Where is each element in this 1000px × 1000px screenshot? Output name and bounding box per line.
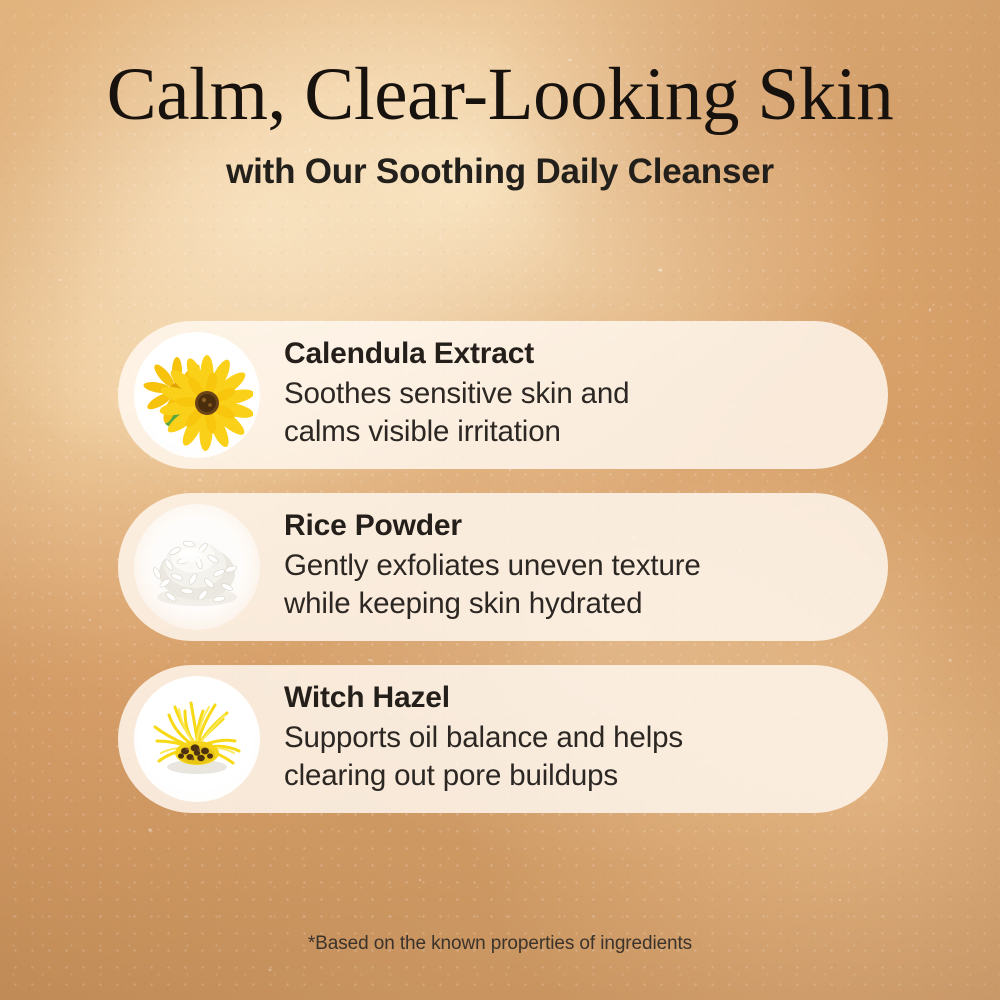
calendula-text-block: Calendula Extract Soothes sensitive skin… xyxy=(284,336,629,453)
ingredient-card-list: Calendula Extract Soothes sensitive skin… xyxy=(118,321,888,837)
rice-powder-icon xyxy=(141,511,253,623)
rice-powder-icon-slot xyxy=(134,504,260,630)
page-title: Calm, Clear-Looking Skin xyxy=(0,56,1000,134)
ingredient-description: Soothes sensitive skin and calms visible… xyxy=(284,375,629,452)
ingredient-description: Gently exfoliates uneven texture while k… xyxy=(284,547,701,624)
rice-powder-text-block: Rice Powder Gently exfoliates uneven tex… xyxy=(284,508,701,625)
witch-hazel-icon-slot xyxy=(134,676,260,802)
ingredient-card-witch-hazel: Witch Hazel Supports oil balance and hel… xyxy=(118,665,888,813)
ingredient-card-calendula: Calendula Extract Soothes sensitive skin… xyxy=(118,321,888,469)
ingredient-description: Supports oil balance and helps clearing … xyxy=(284,719,683,796)
ingredient-name: Witch Hazel xyxy=(284,680,683,717)
ingredient-card-rice-powder: Rice Powder Gently exfoliates uneven tex… xyxy=(118,493,888,641)
ingredient-name: Calendula Extract xyxy=(284,336,629,373)
poster-content: Calm, Clear-Looking Skin with Our Soothi… xyxy=(0,0,1000,1000)
page-subtitle: with Our Soothing Daily Cleanser xyxy=(0,152,1000,192)
infographic-poster: Calm, Clear-Looking Skin with Our Soothi… xyxy=(0,0,1000,1000)
calendula-icon-slot xyxy=(134,332,260,458)
ingredient-name: Rice Powder xyxy=(284,508,701,545)
footnote-disclaimer: *Based on the known properties of ingred… xyxy=(0,933,1000,955)
witch-hazel-text-block: Witch Hazel Supports oil balance and hel… xyxy=(284,680,683,797)
witch-hazel-flower-icon xyxy=(141,683,253,795)
calendula-flower-icon xyxy=(141,339,253,451)
